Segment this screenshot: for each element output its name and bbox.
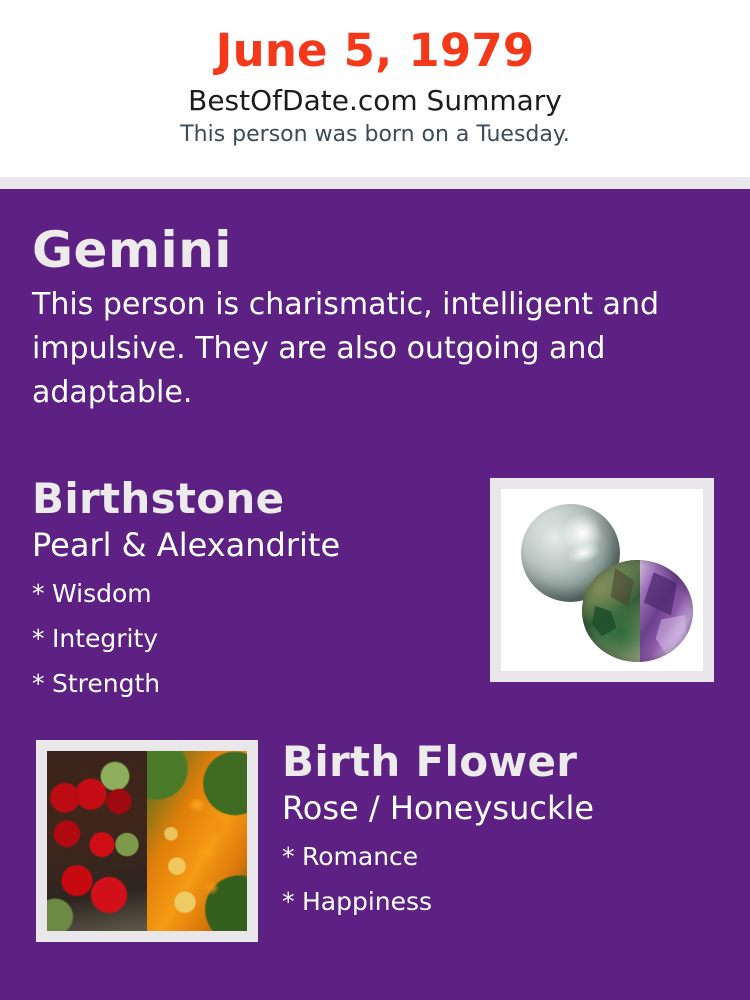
- birth-weekday-note: This person was born on a Tuesday.: [0, 118, 750, 149]
- trait-label: Happiness: [302, 887, 432, 916]
- trait-label: Wisdom: [52, 579, 152, 608]
- zodiac-section: Gemini This person is charismatic, intel…: [32, 221, 702, 415]
- asterisk-icon: *: [32, 661, 52, 706]
- birthstone-section: Birthstone Pearl & Alexandrite *Wisdom *…: [32, 474, 472, 706]
- summary-card: June 5, 1979 BestOfDate.com Summary This…: [0, 0, 750, 1000]
- list-item: *Strength: [32, 661, 472, 706]
- zodiac-sign-title: Gemini: [32, 221, 702, 279]
- birthstone-image-canvas: [501, 489, 703, 671]
- birth-flower-names: Rose / Honeysuckle: [282, 787, 712, 828]
- birthstone-image: [490, 478, 714, 682]
- alexandrite-gem-shape: [582, 560, 693, 662]
- birth-flower-title: Birth Flower: [282, 737, 712, 787]
- gem-rim-shadow: [582, 560, 693, 662]
- trait-label: Romance: [302, 842, 418, 871]
- list-item: *Romance: [282, 834, 712, 879]
- asterisk-icon: *: [282, 834, 302, 879]
- list-item: *Wisdom: [32, 571, 472, 616]
- list-item: *Happiness: [282, 879, 712, 924]
- birth-flower-image-canvas: [47, 751, 247, 931]
- list-item: *Integrity: [32, 616, 472, 661]
- divider: [0, 177, 750, 189]
- site-name: BestOfDate.com Summary: [0, 78, 750, 118]
- birth-flower-section: Birth Flower Rose / Honeysuckle *Romance…: [282, 737, 712, 924]
- trait-label: Strength: [52, 669, 160, 698]
- zodiac-description: This person is charismatic, intelligent …: [32, 279, 692, 415]
- asterisk-icon: *: [282, 879, 302, 924]
- birthstone-stones: Pearl & Alexandrite: [32, 524, 472, 565]
- asterisk-icon: *: [32, 616, 52, 661]
- birth-flower-traits-list: *Romance *Happiness: [282, 828, 712, 924]
- birth-flower-image: [36, 740, 258, 942]
- roses-photo-half: [47, 751, 147, 931]
- birthstone-traits-list: *Wisdom *Integrity *Strength: [32, 565, 472, 706]
- honeysuckle-photo-half: [147, 751, 247, 931]
- page-title-date: June 5, 1979: [0, 0, 750, 78]
- asterisk-icon: *: [32, 571, 52, 616]
- birthstone-title: Birthstone: [32, 474, 472, 524]
- header: June 5, 1979 BestOfDate.com Summary This…: [0, 0, 750, 177]
- trait-label: Integrity: [52, 624, 158, 653]
